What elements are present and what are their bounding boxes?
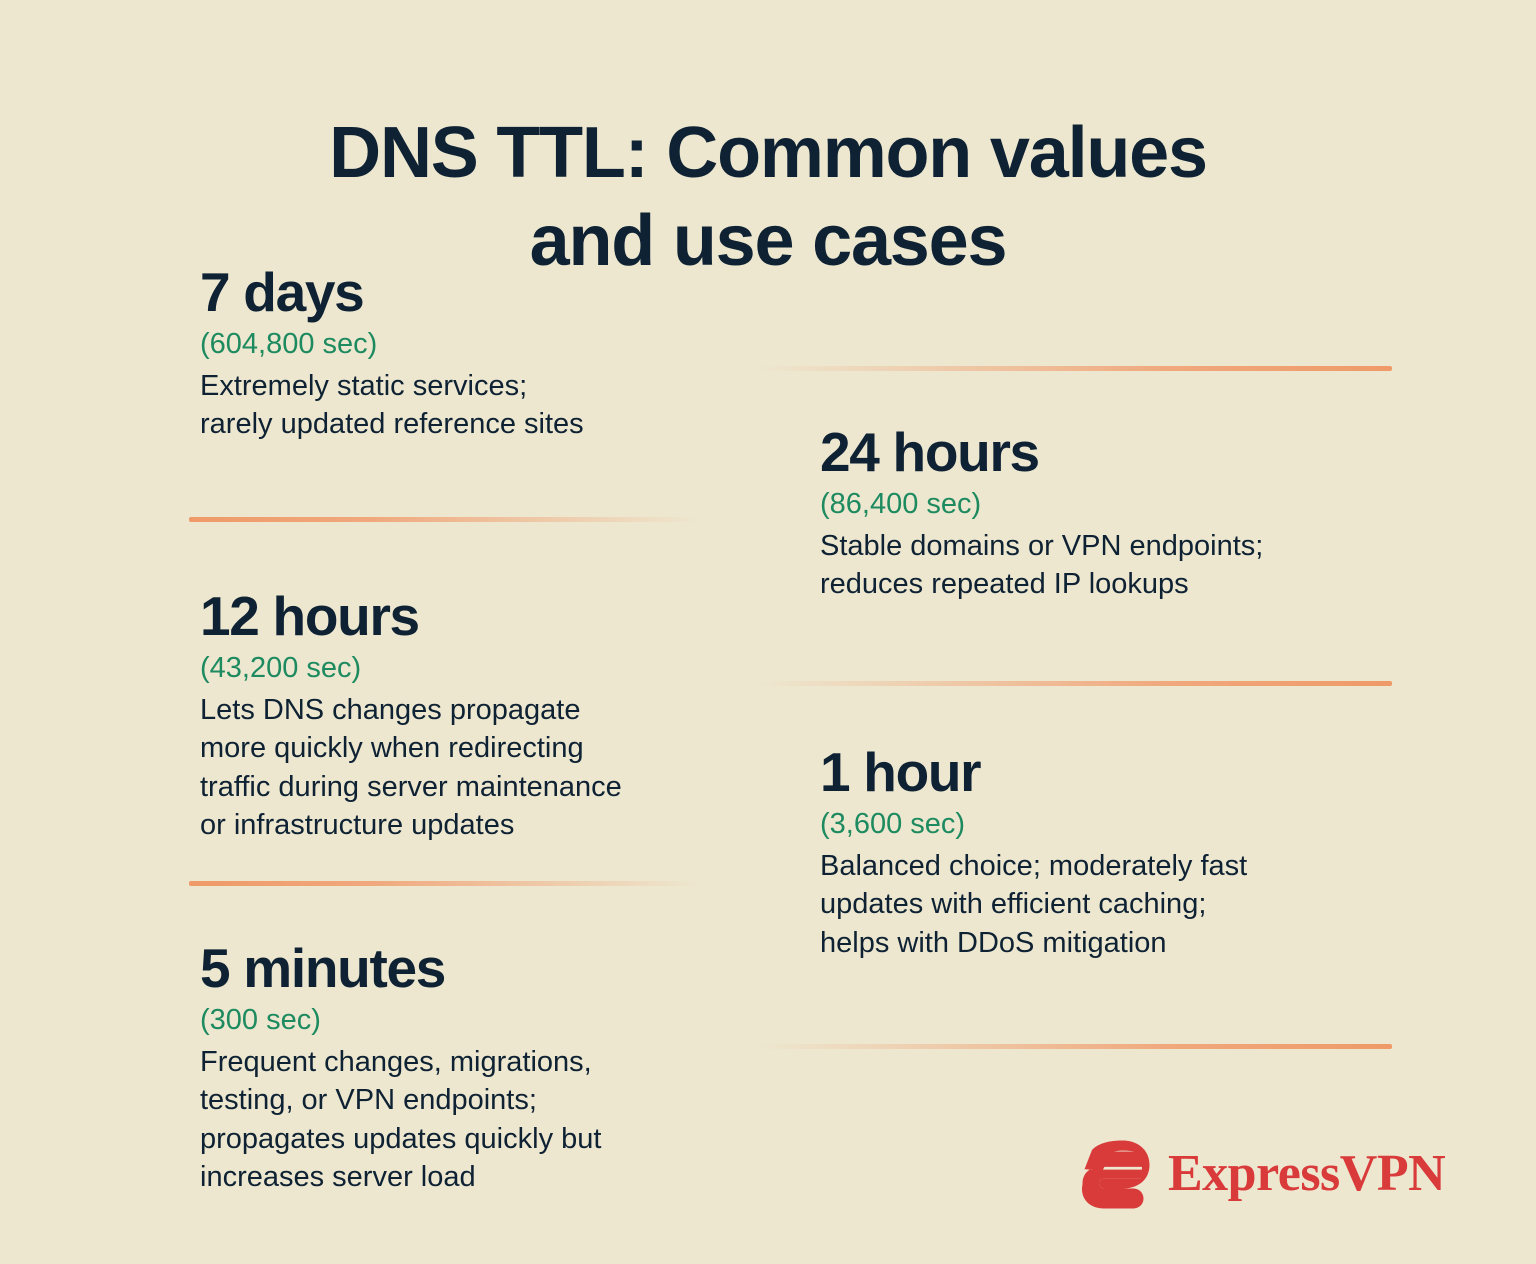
expressvpn-wordmark: ExpressVPN [1168,1148,1445,1200]
page-title: DNS TTL: Common values and use cases [0,110,1536,286]
ttl-seconds: (3,600 sec) [820,808,1400,841]
ttl-description: Frequent changes, migrations, testing, o… [200,1043,730,1196]
ttl-entry-12-hours: 12 hours (43,200 sec) Lets DNS changes p… [200,588,730,844]
divider-right-1 [756,366,1392,371]
ttl-entry-24-hours: 24 hours (86,400 sec) Stable domains or … [820,424,1400,604]
ttl-description: Extremely static services; rarely update… [200,367,730,444]
divider-left-2 [189,881,701,886]
ttl-value: 12 hours [200,588,730,646]
expressvpn-e-icon [1078,1138,1156,1210]
ttl-value: 1 hour [820,744,1400,802]
infographic-canvas: DNS TTL: Common values and use cases 7 d… [0,0,1536,1264]
expressvpn-logo: ExpressVPN [1078,1138,1445,1210]
ttl-value: 24 hours [820,424,1400,482]
ttl-value: 5 minutes [200,940,730,998]
ttl-seconds: (300 sec) [200,1004,730,1037]
ttl-seconds: (604,800 sec) [200,328,730,361]
ttl-description: Lets DNS changes propagate more quickly … [200,691,730,844]
ttl-entry-1-hour: 1 hour (3,600 sec) Balanced choice; mode… [820,744,1400,962]
ttl-entry-5-minutes: 5 minutes (300 sec) Frequent changes, mi… [200,940,730,1196]
ttl-seconds: (43,200 sec) [200,652,730,685]
ttl-description: Stable domains or VPN endpoints; reduces… [820,527,1400,604]
divider-right-2 [756,681,1392,686]
ttl-seconds: (86,400 sec) [820,488,1400,521]
divider-right-3 [756,1044,1392,1049]
ttl-value: 7 days [200,264,730,322]
divider-left-1 [189,517,701,522]
ttl-entry-7-days: 7 days (604,800 sec) Extremely static se… [200,264,730,444]
ttl-description: Balanced choice; moderately fast updates… [820,847,1400,962]
